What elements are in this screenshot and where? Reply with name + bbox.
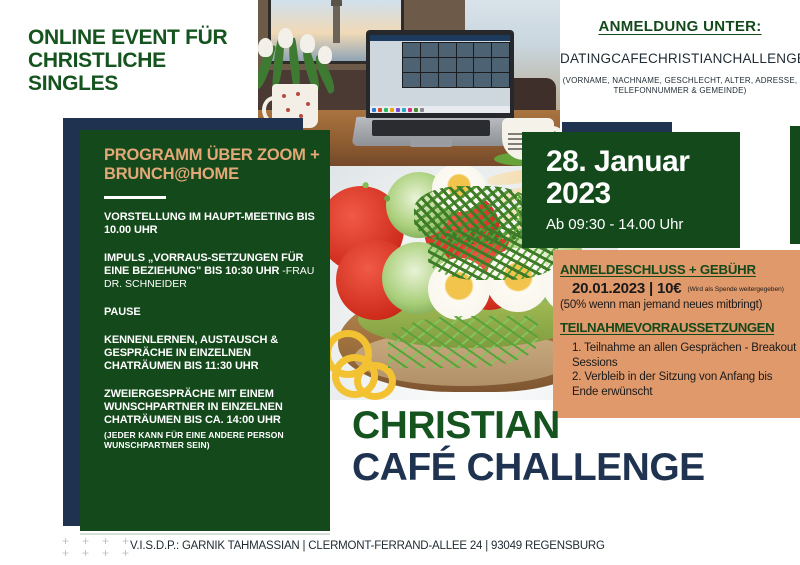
program-item-main: ZWEIERGESPRÄCHE MIT EINEM WUNSCHPARTNER …	[104, 388, 283, 426]
registration-block: ANMELDUNG UNTER: DATINGCAFECHRISTIANCHAL…	[560, 18, 800, 96]
laptop	[354, 30, 514, 150]
footer-imprint: V.I.S.D.P.: GARNIK TAHMASSIAN | CLERMONT…	[130, 540, 605, 552]
fee-block: ANMELDESCHLUSS + GEBÜHR 20.01.2023 | 10€…	[560, 262, 798, 399]
os-taskbar	[370, 106, 510, 113]
cress-sprouts	[344, 172, 416, 216]
fee-heading: ANMELDESCHLUSS + GEBÜHR	[560, 262, 798, 277]
laptop-keyboard	[372, 120, 490, 136]
date-block: 28. Januar 2023 Ab 09:30 - 14.00 Uhr	[546, 146, 746, 233]
yellow-pepper-rings	[328, 320, 394, 394]
fee-donation-note: (Wird als Spende weitergegeben)	[687, 286, 783, 293]
program-item: PAUSE	[104, 306, 320, 319]
tulip-bouquet	[258, 28, 348, 90]
event-time: Ab 09:30 - 14.00 Uhr	[546, 216, 746, 233]
program-item-main: PAUSE	[104, 306, 141, 318]
program-item: ZWEIERGESPRÄCHE MIT EINEM WUNSCHPARTNER …	[104, 388, 320, 450]
event-title-line2: CAFÉ CHALLENGE	[352, 447, 782, 489]
laptop-trackpad	[410, 138, 452, 147]
program-item: VORSTELLUNG IM HAUPT-MEETING BIS 10.00 U…	[104, 211, 320, 237]
program-block: PROGRAMM ÜBER ZOOM + BRUNCH@HOME VORSTEL…	[104, 146, 320, 465]
flyer-canvas: ONLINE EVENT FÜR CHRISTLICHE SINGLES ANM…	[0, 0, 800, 565]
program-item-main: VORSTELLUNG IM HAUPT-MEETING BIS 10.00 U…	[104, 211, 315, 236]
requirement-item: 2. Verbleib in der Sitzung von Anfang bi…	[572, 370, 798, 399]
requirements-heading: TEILNAHMEVORRAUSSETZUNGEN	[560, 320, 798, 335]
event-date: 28. Januar 2023	[546, 146, 746, 210]
page-title: ONLINE EVENT FÜR CHRISTLICHE SINGLES	[28, 26, 243, 95]
laptop-screen	[370, 35, 510, 113]
program-item-main: IMPULS „VORRAUS-SETZUNGEN FÜR EINE BEZIE…	[104, 252, 303, 277]
registration-heading: ANMELDUNG UNTER:	[560, 18, 800, 35]
fee-discount-note: (50% wenn man jemand neues mitbringt)	[560, 299, 798, 311]
video-call-titlebar	[370, 35, 510, 41]
program-divider	[104, 196, 166, 199]
program-item-note: (JEDER KANN FÜR EINE ANDERE PERSON WUNSC…	[104, 430, 320, 450]
cress-sprouts	[388, 316, 538, 368]
fee-amount-value: 20.01.2023 | 10€	[572, 280, 681, 297]
registration-email[interactable]: DATINGCAFECHRISTIANCHALLENGE@GMAIL.COM	[560, 51, 800, 67]
laptop-screen-frame	[366, 30, 514, 118]
green-corner-accent	[790, 126, 800, 244]
requirement-item: 1. Teilnahme an allen Gesprächen - Break…	[572, 341, 798, 370]
program-item: IMPULS „VORRAUS-SETZUNGEN FÜR EINE BEZIE…	[104, 252, 320, 291]
requirements-list: 1. Teilnahme an allen Gesprächen - Break…	[560, 341, 798, 399]
event-title: CHRISTIAN CAFÉ CHALLENGE	[352, 405, 782, 489]
event-title-line1: CHRISTIAN	[352, 405, 782, 447]
program-item-main: KENNENLERNEN, AUSTAUSCH & GESPRÄCHE IN E…	[104, 334, 278, 372]
registration-required-fields: (VORNAME, NACHNAME, GESCHLECHT, ALTER, A…	[560, 76, 800, 96]
fee-amount: 20.01.2023 | 10€(Wird als Spende weiterg…	[560, 280, 798, 297]
video-call-participant-grid	[402, 42, 510, 88]
program-item: KENNENLERNEN, AUSTAUSCH & GESPRÄCHE IN E…	[104, 334, 320, 373]
program-heading: PROGRAMM ÜBER ZOOM + BRUNCH@HOME	[104, 146, 320, 184]
